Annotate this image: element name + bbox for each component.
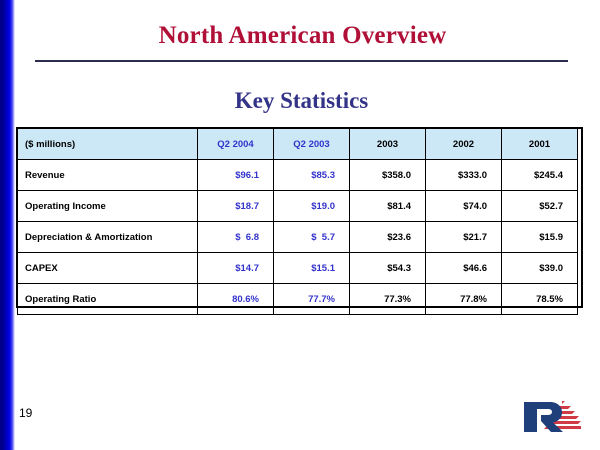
page-number: 19 bbox=[19, 406, 32, 420]
table-cell-value: $333.0 bbox=[426, 160, 502, 191]
table-cell-value: $74.0 bbox=[426, 191, 502, 222]
table-cell-value: $81.4 bbox=[350, 191, 426, 222]
table-cell-value: $54.3 bbox=[350, 253, 426, 284]
table-body: Revenue$96.1$85.3$358.0$333.0$245.4Opera… bbox=[18, 160, 578, 315]
table-header-row: ($ millions)Q2 2004Q2 2003200320022001 bbox=[18, 129, 578, 160]
table-header-corner: ($ millions) bbox=[18, 129, 198, 160]
table-cell-value: $39.0 bbox=[502, 253, 578, 284]
slide-canvas: North American Overview Key Statistics (… bbox=[0, 0, 600, 450]
table-header: ($ millions)Q2 2004Q2 2003200320022001 bbox=[18, 129, 578, 160]
table-row: Operating Ratio80.6%77.7%77.3%77.8%78.5% bbox=[18, 284, 578, 315]
table-row-label: Depreciation & Amortization bbox=[18, 222, 198, 253]
table-cell-value: 77.3% bbox=[350, 284, 426, 315]
table-header-cell-4: 2002 bbox=[426, 129, 502, 160]
table-row-label: Revenue bbox=[18, 160, 198, 191]
logo-blue-letter bbox=[524, 402, 563, 432]
table-header-cell-5: 2001 bbox=[502, 129, 578, 160]
key-statistics-table: ($ millions)Q2 2004Q2 2003200320022001 R… bbox=[17, 128, 578, 315]
table-row: CAPEX$14.7$15.1$54.3$46.6$39.0 bbox=[18, 253, 578, 284]
table-cell-value: 80.6% bbox=[198, 284, 274, 315]
table-cell-value: 77.8% bbox=[426, 284, 502, 315]
table-cell-value: $ 6.8 bbox=[198, 222, 274, 253]
table-cell-value: $23.6 bbox=[350, 222, 426, 253]
table-cell-value: $21.7 bbox=[426, 222, 502, 253]
page-subtitle: Key Statistics bbox=[35, 88, 568, 114]
table-header-cell-3: 2003 bbox=[350, 129, 426, 160]
table-cell-value: $19.0 bbox=[274, 191, 350, 222]
page-title: North American Overview bbox=[35, 22, 570, 50]
table-cell-value: $96.1 bbox=[198, 160, 274, 191]
table-row: Revenue$96.1$85.3$358.0$333.0$245.4 bbox=[18, 160, 578, 191]
table-cell-value: $245.4 bbox=[502, 160, 578, 191]
table-header-cell-2: Q2 2003 bbox=[274, 129, 350, 160]
table-row: Depreciation & Amortization$ 6.8$ 5.7$23… bbox=[18, 222, 578, 253]
table-cell-value: $ 5.7 bbox=[274, 222, 350, 253]
table-cell-value: $14.7 bbox=[198, 253, 274, 284]
table-header-cell-1: Q2 2004 bbox=[198, 129, 274, 160]
title-divider bbox=[35, 60, 568, 62]
table-cell-value: 78.5% bbox=[502, 284, 578, 315]
table-row-label: CAPEX bbox=[18, 253, 198, 284]
table-cell-value: $358.0 bbox=[350, 160, 426, 191]
table-row-label: Operating Ratio bbox=[18, 284, 198, 315]
table-cell-value: $15.9 bbox=[502, 222, 578, 253]
company-r-logo bbox=[519, 397, 581, 437]
table-row-label: Operating Income bbox=[18, 191, 198, 222]
table-cell-value: 77.7% bbox=[274, 284, 350, 315]
table-cell-value: $52.7 bbox=[502, 191, 578, 222]
table-row: Operating Income$18.7$19.0$81.4$74.0$52.… bbox=[18, 191, 578, 222]
table-cell-value: $18.7 bbox=[198, 191, 274, 222]
left-gradient-bar bbox=[0, 0, 15, 450]
table-cell-value: $15.1 bbox=[274, 253, 350, 284]
table-cell-value: $46.6 bbox=[426, 253, 502, 284]
table-cell-value: $85.3 bbox=[274, 160, 350, 191]
